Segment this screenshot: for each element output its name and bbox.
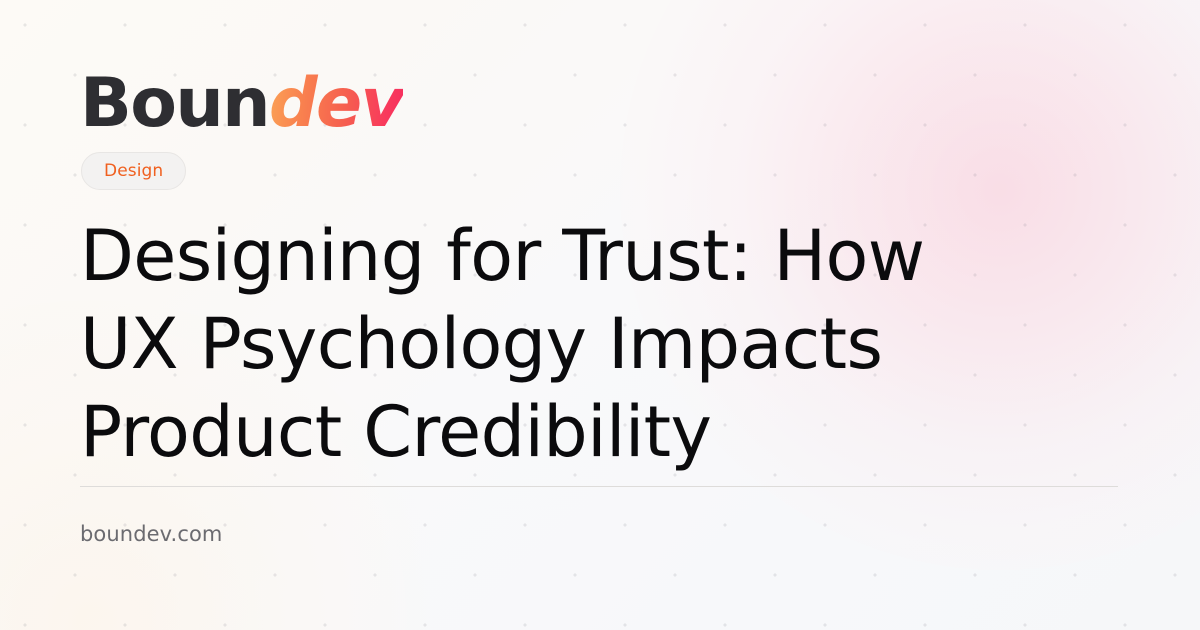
footer-divider <box>80 486 1118 487</box>
site-url[interactable]: boundev.com <box>80 520 222 548</box>
brand-logo-primary-text: Boun <box>80 64 269 143</box>
brand-logo[interactable]: Boundev <box>80 70 403 138</box>
category-badge[interactable]: Design <box>81 152 186 190</box>
social-share-card: Boundev Design Designing for Trust: How … <box>0 0 1200 630</box>
card-content: Boundev Design Designing for Trust: How … <box>0 0 1200 630</box>
category-badge-label: Design <box>104 163 163 180</box>
brand-logo-accent-text: dev <box>269 64 403 143</box>
page-title: Designing for Trust: How UX Psychology I… <box>80 212 1040 476</box>
